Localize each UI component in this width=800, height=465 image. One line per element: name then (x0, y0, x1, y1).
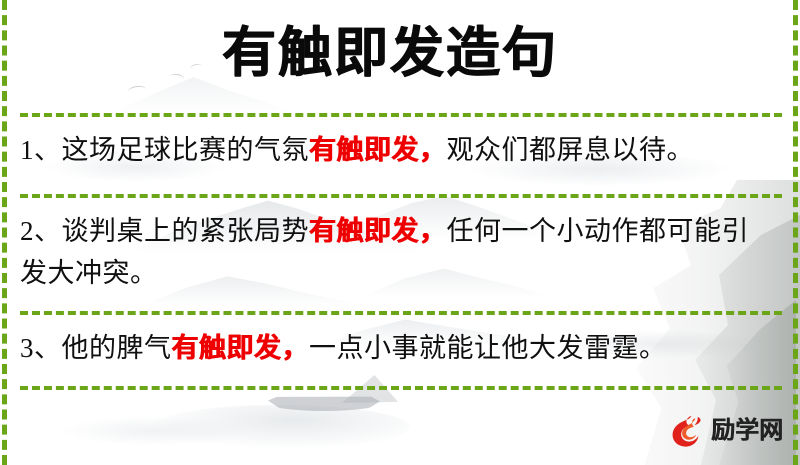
highlighted-idiom: 有触即发 (309, 216, 419, 246)
highlighted-idiom: 有触即发 (172, 333, 282, 363)
frame-border-right (793, 0, 798, 465)
dashed-separator (20, 311, 782, 315)
sentence-item: 1、这场足球比赛的气氛有触即发，观众们都屏息以待。 (20, 129, 776, 171)
site-watermark-logo: 励学网 (668, 412, 783, 450)
highlighted-idiom-punctuation: ， (419, 135, 447, 165)
water-wake-watermark (150, 405, 410, 449)
sentence-text-after: 观众们都屏息以待。 (447, 135, 695, 165)
worksheet-page: 有触即发造句 1、这场足球比赛的气氛有触即发，观众们都屏息以待。 2、谈判桌上的… (0, 0, 800, 465)
sentence-text-after: 一点小事就能让他大发雷霆。 (309, 333, 667, 363)
flame-swirl-icon (668, 412, 706, 450)
dashed-separator (20, 386, 782, 390)
sentence-number: 3、 (20, 333, 62, 363)
site-brand-name: 励学网 (711, 419, 783, 443)
highlighted-idiom-punctuation: ， (282, 333, 310, 363)
sentence-item: 3、他的脾气有触即发，一点小事就能让他大发雷霆。 (20, 327, 776, 369)
highlighted-idiom: 有触即发 (309, 135, 419, 165)
highlighted-idiom-punctuation: ， (419, 216, 447, 246)
sentence-number: 1、 (20, 135, 62, 165)
boat-hull-watermark (268, 395, 380, 411)
sentence-number: 2、 (20, 216, 62, 246)
dashed-separator (20, 194, 782, 198)
page-title: 有触即发造句 (0, 14, 790, 92)
sentence-text-before: 这场足球比赛的气氛 (62, 135, 310, 165)
dashed-separator (20, 113, 782, 117)
sentence-text-before: 谈判桌上的紧张局势 (62, 216, 310, 246)
sentence-item: 2、谈判桌上的紧张局势有触即发，任何一个小动作都可能引发大冲突。 (20, 210, 776, 294)
mist-watermark (60, 416, 250, 446)
sentence-text-before: 他的脾气 (62, 333, 172, 363)
